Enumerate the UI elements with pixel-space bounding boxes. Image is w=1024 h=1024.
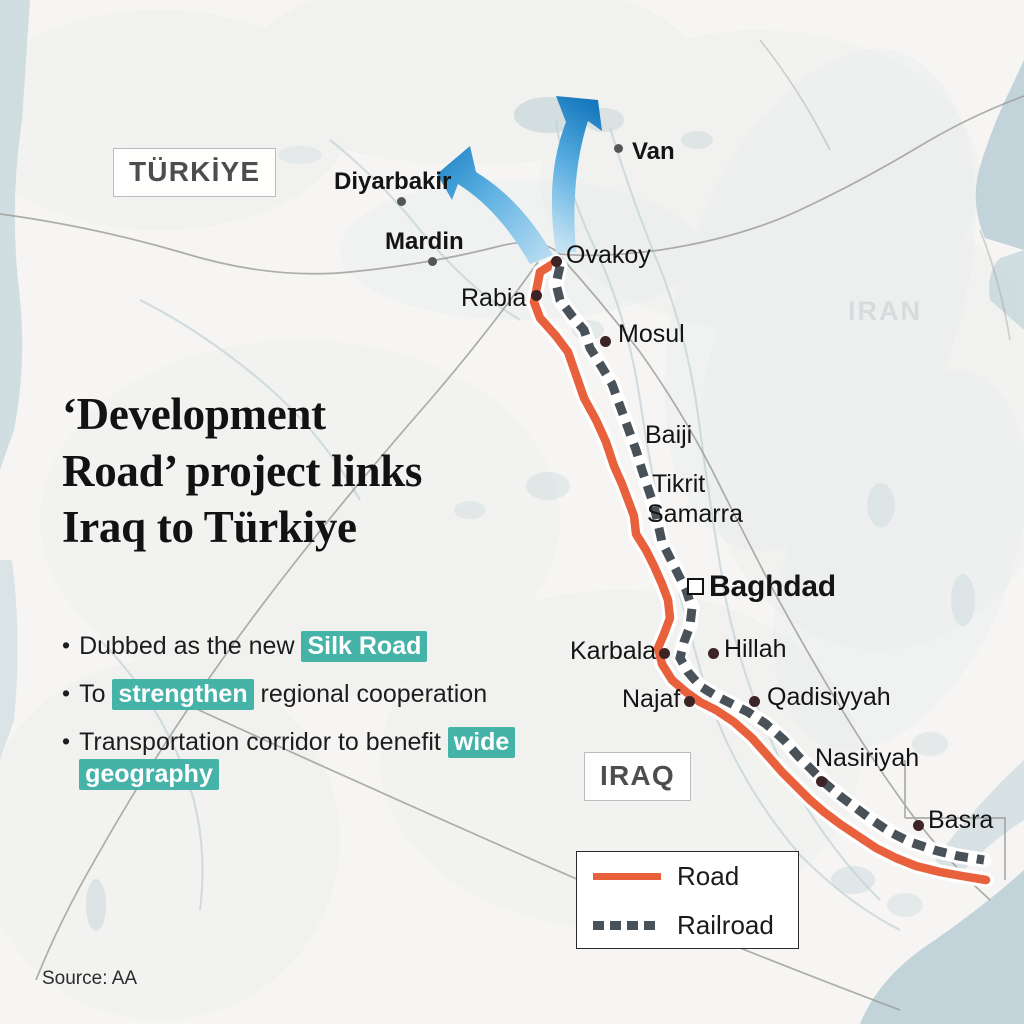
headline-line-3: Iraq to Türkiye: [62, 499, 602, 556]
city-label-najaf: Najaf: [622, 685, 680, 714]
city-label-nasiriyah: Nasiriyah: [815, 744, 919, 773]
city-marker-mosul: [600, 336, 611, 347]
city-label-ovakoy: Ovakoy: [566, 241, 651, 270]
city-label-mosul: Mosul: [618, 320, 685, 349]
country-label-iraq: IRAQ: [584, 752, 691, 801]
city-label-van: Van: [632, 138, 675, 166]
list-item: • Dubbed as the new Silk Road: [62, 630, 532, 662]
map-legend: Road Railroad: [576, 851, 799, 949]
city-label-diyarbakir: Diyarbakir: [334, 168, 451, 196]
city-marker-hillah: [708, 648, 719, 659]
city-marker-karbala: [659, 648, 670, 659]
infographic-map: ‘Development Road’ project links Iraq to…: [0, 0, 1024, 1024]
bullet-text: To strengthen regional cooperation: [79, 678, 487, 710]
city-marker-rabia: [531, 290, 542, 301]
bullet-text-pre: Transportation corridor to benefit: [79, 728, 448, 756]
bullet-text: Transportation corridor to benefit wide …: [79, 726, 532, 790]
city-label-baiji: Baiji: [645, 421, 692, 450]
bullet-marker: •: [62, 678, 70, 708]
bullet-text-pre: Dubbed as the new: [79, 632, 301, 660]
city-marker-najaf: [684, 696, 695, 707]
city-marker-van: [614, 144, 623, 153]
bullet-marker: •: [62, 726, 70, 756]
bullet-text-pre: To: [79, 680, 112, 708]
legend-item-road: Road: [577, 852, 798, 901]
headline-line-2: Road’ project links: [62, 443, 602, 500]
legend-item-railroad: Railroad: [577, 901, 798, 950]
city-marker-ovakoy: [551, 256, 562, 267]
country-label-iran: IRAN: [848, 296, 922, 327]
legend-label-road: Road: [677, 861, 739, 892]
city-label-baghdad: Baghdad: [709, 570, 836, 604]
city-marker-nasiriyah: [816, 776, 827, 787]
city-label-samarra: Samarra: [647, 500, 743, 529]
road-line-swatch: [593, 866, 661, 888]
city-marker-diyarbakir: [397, 197, 406, 206]
legend-label-railroad: Railroad: [677, 910, 774, 941]
city-marker-baghdad-capital: [687, 578, 704, 595]
city-marker-mardin: [428, 257, 437, 266]
source-credit: Source: AA: [42, 968, 137, 990]
bullet-text-post: regional cooperation: [254, 680, 488, 708]
city-label-rabia: Rabia: [461, 284, 526, 313]
city-label-basra: Basra: [928, 806, 993, 835]
bullet-text: Dubbed as the new Silk Road: [79, 630, 427, 662]
headline-line-1: ‘Development: [62, 386, 602, 443]
city-label-hillah: Hillah: [724, 635, 787, 664]
bullet-highlight: strengthen: [112, 679, 253, 710]
list-item: • To strengthen regional cooperation: [62, 678, 532, 710]
city-label-mardin: Mardin: [385, 228, 464, 256]
page-title: ‘Development Road’ project links Iraq to…: [62, 386, 602, 556]
city-marker-qadisiyyah: [749, 696, 760, 707]
bullet-highlight: Silk Road: [301, 631, 427, 662]
city-label-qadisiyyah: Qadisiyyah: [767, 683, 891, 712]
railroad-line-swatch: [593, 915, 661, 937]
bullet-list: • Dubbed as the new Silk Road • To stren…: [62, 630, 532, 806]
country-label-turkiye: TÜRKİYE: [113, 148, 276, 197]
city-marker-basra: [913, 820, 924, 831]
city-label-tikrit: Tikrit: [652, 470, 705, 499]
list-item: • Transportation corridor to benefit wid…: [62, 726, 532, 790]
bullet-marker: •: [62, 630, 70, 660]
city-label-karbala: Karbala: [570, 637, 656, 666]
